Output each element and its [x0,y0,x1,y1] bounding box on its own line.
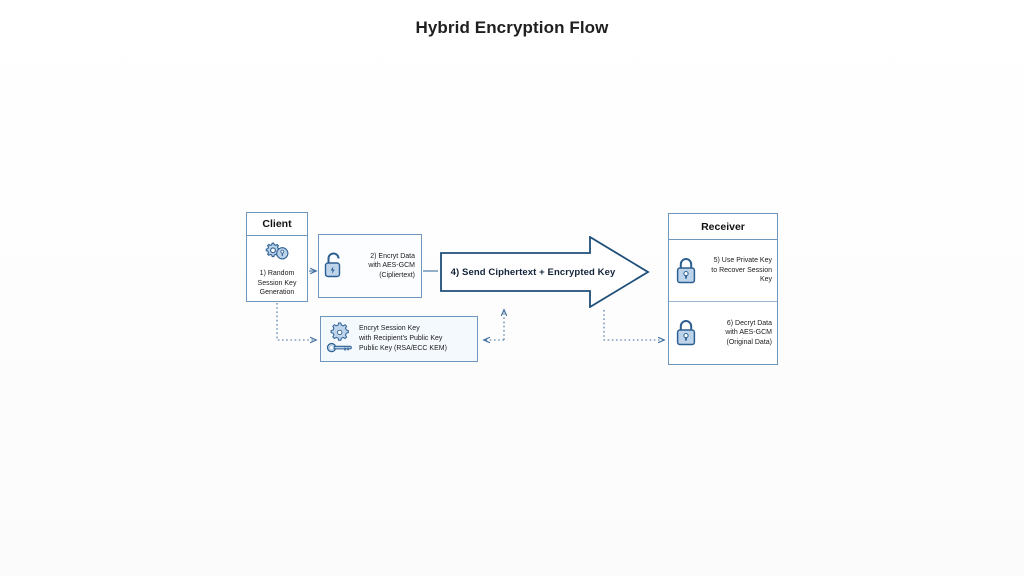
encrypt-data-line-3: (Cipliertext) [349,271,415,281]
receiver-box[interactable]: Receiver 5) Use Private Key to Recover S… [668,213,778,365]
diagram-canvas: Hybrid Encryption Flow [0,0,1024,576]
client-caption: 1) Random Session Key Generation [248,269,306,298]
encrypt-data-box[interactable]: 2) Encryt Data with AES-GCM (Cipliertext… [318,234,422,298]
closed-padlock-icon [669,318,703,348]
receiver-step-1-line-1: 5) Use Private Key [703,256,772,266]
encrypt-data-caption: 2) Encryt Data with AES-GCM (Cipliertext… [349,252,421,281]
receiver-step-2-line-1: 6) Decryt Data [703,319,772,329]
receiver-step-1-line-3: Key [703,275,772,285]
encrypt-session-key-line-2: with Recipient's Public Key [359,334,477,344]
encrypt-data-line-1: 2) Encryt Data [349,252,415,262]
receiver-step-1: 5) Use Private Key to Recover Session Ke… [669,240,777,302]
receiver-header: Receiver [669,214,777,240]
receiver-step-1-caption: 5) Use Private Key to Recover Session Ke… [703,256,777,285]
receiver-step-2-line-3: (Original Data) [703,338,772,348]
client-header: Client [247,213,307,236]
connector-client-to-session-key [277,303,316,340]
client-caption-line-3: Generation [248,288,306,298]
client-body: 1) Random Session Key Generation [247,236,307,302]
transport-arrow-label: 4) Send Ciphertext + Encrypted Key [448,236,618,308]
receiver-step-2-caption: 6) Decryt Data with AES-GCM (Original Da… [703,319,777,348]
open-padlock-bolt-icon [319,250,349,282]
encrypt-session-key-line-3: Public Key (RSA/ECC KEM) [359,344,477,354]
connector-session-key-to-transport [484,310,504,340]
encrypt-data-line-2: with AES-GCM [349,261,415,271]
client-box[interactable]: Client 1) Random Session Key [246,212,308,302]
encrypt-session-key-box[interactable]: Encryt Session Key with Recipient's Publ… [320,316,478,362]
receiver-step-2: 6) Decryt Data with AES-GCM (Original Da… [669,302,777,364]
receiver-step-1-line-2: to Recover Session [703,266,772,276]
transport-arrow[interactable]: 4) Send Ciphertext + Encrypted Key [440,236,650,308]
receiver-step-2-line-2: with AES-GCM [703,328,772,338]
encrypt-session-key-line-1: Encryt Session Key [359,324,477,334]
encrypt-session-key-caption: Encryt Session Key with Recipient's Publ… [359,324,477,354]
client-caption-line-1: 1) Random [248,269,306,279]
connector-transport-to-receiver [604,310,664,340]
gear-key-icon [263,240,291,267]
gear-and-key-icon [321,321,359,357]
closed-padlock-icon [669,256,703,286]
page-title: Hybrid Encryption Flow [0,18,1024,38]
client-caption-line-2: Session Key [248,279,306,289]
